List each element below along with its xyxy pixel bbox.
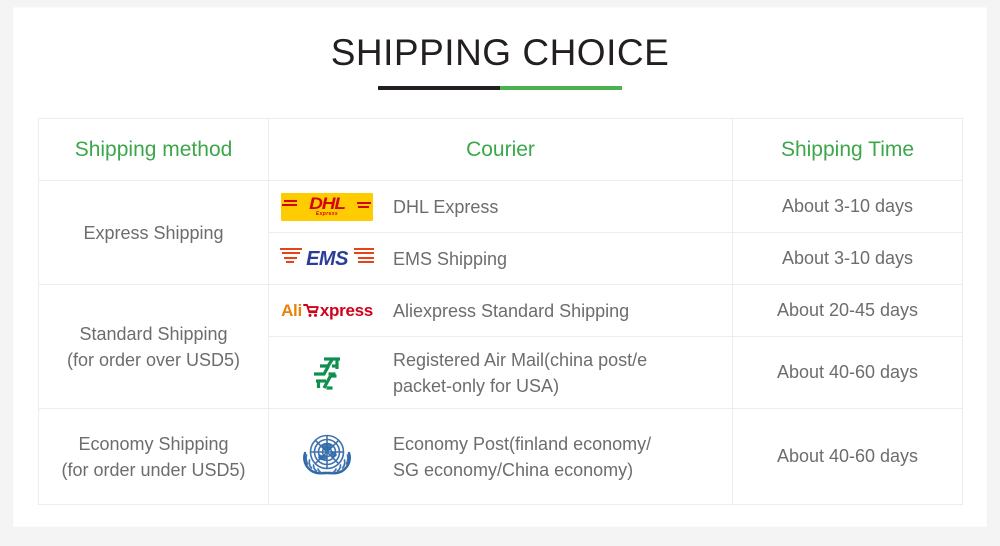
table-row: Economy Shipping (for order under USD5) [39,409,963,505]
table-body: Express Shipping DHL [39,181,963,505]
logo-slot: DHL Express [279,185,375,229]
courier-label-line1: DHL Express [393,197,498,217]
ems-stripes-left-icon [280,248,302,264]
logo-slot: EMS [279,237,375,281]
table-header-row: Shipping method Courier Shipping Time [39,119,963,181]
time-cell: About 3-10 days [733,233,963,285]
time-cell: About 40-60 days [733,337,963,409]
courier-label-line1: Economy Post(finland economy/ [393,431,651,457]
method-cell-economy: Economy Shipping (for order under USD5) [39,409,269,505]
logo-slot [279,424,375,490]
table-row: Express Shipping DHL [39,181,963,233]
dhl-logo: DHL Express [281,193,373,221]
header-courier: Courier [269,119,733,181]
courier-label-line2: SG economy/China economy) [393,457,651,483]
time-cell: About 40-60 days [733,409,963,505]
dhl-streak-icon [282,204,297,206]
shopping-cart-icon [303,303,319,318]
method-cell-standard: Standard Shipping (for order over USD5) [39,285,269,409]
courier-label: EMS Shipping [393,246,507,272]
courier-cell-ems: EMS EMS Shipping [269,233,733,285]
page-root: SHIPPING CHOICE Shipping method Courier … [0,0,1000,546]
content-card: SHIPPING CHOICE Shipping method Courier … [14,8,986,526]
table-row: Standard Shipping (for order over USD5) … [39,285,963,337]
courier-cell-economy-post: Economy Post(finland economy/ SG economy… [269,409,733,505]
dhl-streak-icon [358,206,369,208]
table-header: Shipping method Courier Shipping Time [39,119,963,181]
method-cell-express: Express Shipping [39,181,269,285]
un-logo [295,427,359,487]
page-title: SHIPPING CHOICE [14,30,986,76]
shipping-table: Shipping method Courier Shipping Time Ex… [38,118,963,505]
time-cell: About 3-10 days [733,181,963,233]
dhl-streak-icon [284,200,297,202]
underline-dark-segment [378,86,500,90]
aliexpress-logo-part1: Ali [281,301,302,321]
dhl-streak-icon [357,202,371,204]
logo-slot: Ali xpress [279,289,375,333]
underline-green-segment [500,86,622,90]
courier-label: Registered Air Mail(china post/e packet-… [393,347,647,399]
method-title: Express Shipping [83,223,223,243]
courier-label: Aliexpress Standard Shipping [393,298,629,324]
courier-label-line1: Aliexpress Standard Shipping [393,301,629,321]
method-title: Economy Shipping [49,431,258,457]
courier-cell-aliexpress: Ali xpress [269,285,733,337]
courier-label: DHL Express [393,194,498,220]
title-block: SHIPPING CHOICE [14,30,986,90]
courier-label: Economy Post(finland economy/ SG economy… [393,431,651,483]
courier-label-line1: Registered Air Mail(china post/e [393,347,647,373]
china-post-logo [304,350,350,396]
method-subtitle: (for order over USD5) [49,347,258,373]
header-shipping-time: Shipping Time [733,119,963,181]
time-cell: About 20-45 days [733,285,963,337]
ems-stripes-right-icon [352,248,374,264]
aliexpress-logo: Ali xpress [281,301,373,321]
courier-cell-china-post: Registered Air Mail(china post/e packet-… [269,337,733,409]
aliexpress-logo-part2: xpress [320,301,373,321]
title-underline [378,86,622,90]
ems-logo: EMS [280,244,374,274]
ems-logo-word: EMS [306,249,348,269]
dhl-logo-word: DHL [309,196,345,211]
courier-label-line2: packet-only for USA) [393,373,647,399]
courier-cell-dhl: DHL Express DHL Express [269,181,733,233]
method-subtitle: (for order under USD5) [49,457,258,483]
header-shipping-method: Shipping method [39,119,269,181]
logo-slot [279,351,375,395]
method-title: Standard Shipping [49,321,258,347]
courier-label-line1: EMS Shipping [393,249,507,269]
